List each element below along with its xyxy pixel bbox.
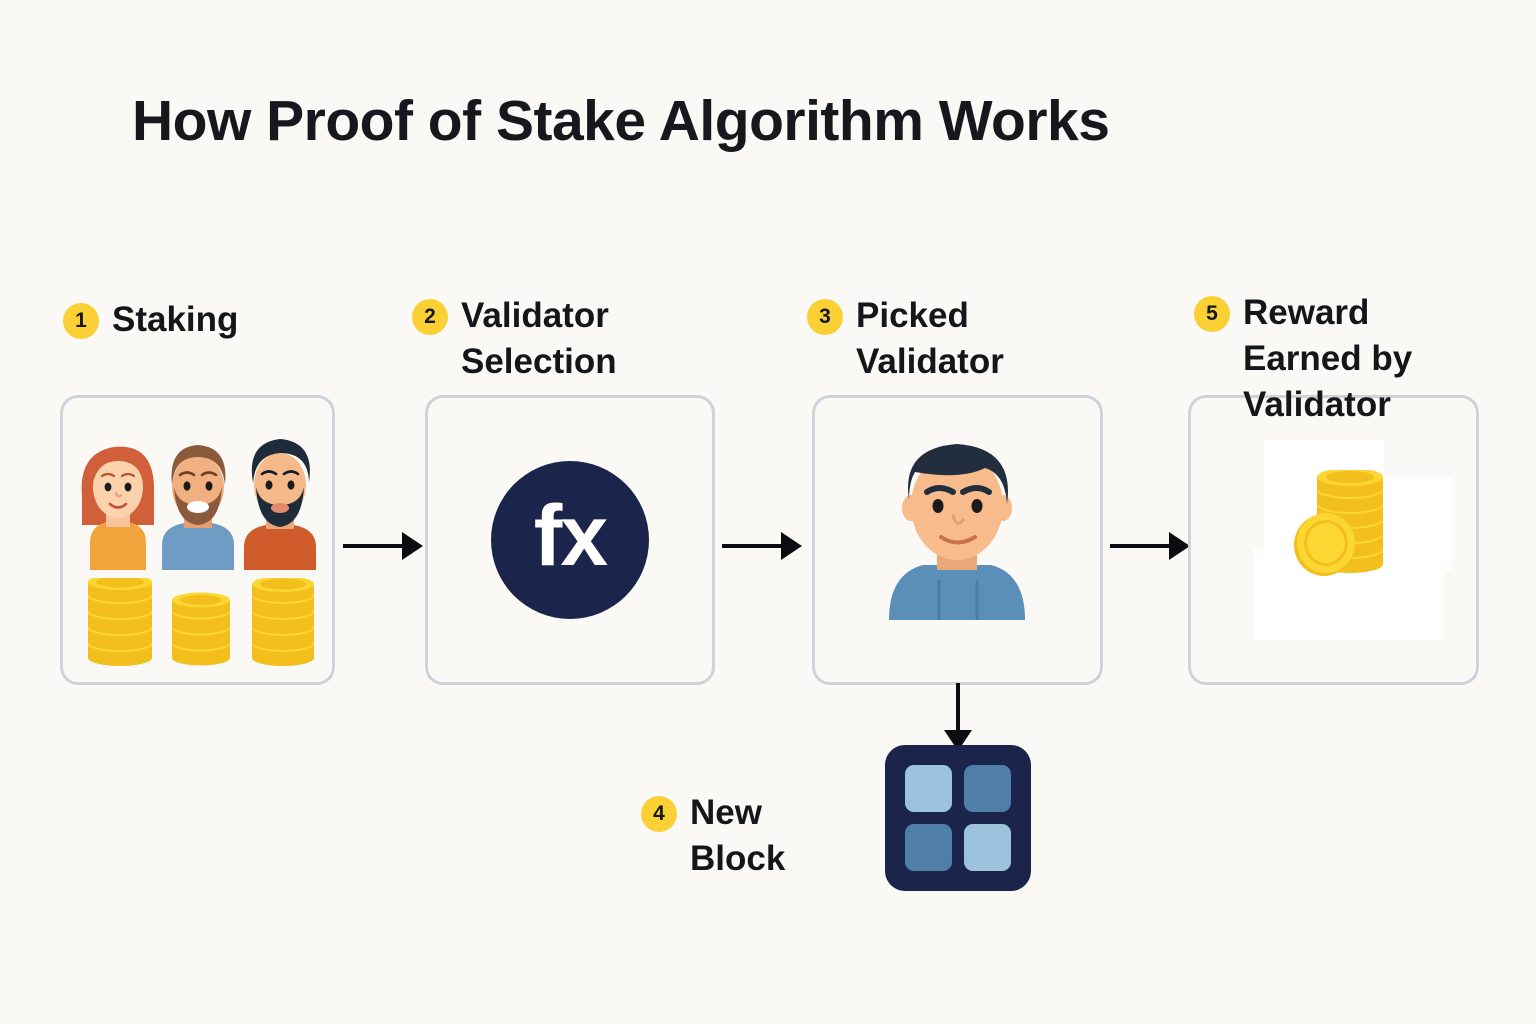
step-label-picked-validator: 3 Picked Validator bbox=[807, 293, 1004, 385]
page-title: How Proof of Stake Algorithm Works bbox=[132, 88, 1109, 154]
infographic-canvas: How Proof of Stake Algorithm Works 1 Sta… bbox=[0, 0, 1536, 1024]
step-badge-3: 3 bbox=[807, 299, 843, 335]
person-dark-haired-man-staker bbox=[244, 439, 316, 570]
block-tile-bottom-right bbox=[964, 824, 1011, 871]
reward-coin-stack bbox=[1293, 470, 1403, 582]
picked-validator-avatar bbox=[865, 434, 1049, 620]
arrow-head bbox=[781, 532, 802, 560]
block-tile-top-right bbox=[964, 765, 1011, 812]
arrow-head bbox=[402, 532, 423, 560]
step-label-staking: 1 Staking bbox=[63, 297, 238, 343]
block-tile-bottom-left bbox=[905, 824, 952, 871]
arrow-head bbox=[1169, 532, 1190, 560]
arrow-staking-to-validator-selection bbox=[343, 531, 423, 561]
coin-stack-middle bbox=[172, 593, 230, 666]
step-label-reward-earned: 5 Reward Earned by Validator bbox=[1194, 290, 1412, 429]
arrow-validator-selection-to-picked-validator bbox=[722, 531, 802, 561]
person-woman-staker bbox=[82, 447, 154, 570]
step-badge-2: 2 bbox=[412, 299, 448, 335]
step-badge-5: 5 bbox=[1194, 296, 1230, 332]
coin-stack-left bbox=[88, 578, 152, 666]
arrow-shaft bbox=[722, 544, 781, 548]
step-title-2: Validator Selection bbox=[461, 293, 617, 385]
step-title-1: Staking bbox=[112, 297, 238, 343]
new-block-icon bbox=[885, 745, 1031, 891]
step-title-4: New Block bbox=[690, 790, 785, 882]
arrow-shaft bbox=[1110, 544, 1169, 548]
step-title-3: Picked Validator bbox=[856, 293, 1004, 385]
coin-stacks-group bbox=[88, 578, 314, 670]
step-label-validator-selection: 2 Validator Selection bbox=[412, 293, 617, 385]
arrow-shaft bbox=[343, 544, 402, 548]
step-label-new-block: 4 New Block bbox=[641, 790, 785, 882]
coin-stack-right bbox=[252, 578, 314, 666]
block-tile-top-left bbox=[905, 765, 952, 812]
step-title-5: Reward Earned by Validator bbox=[1243, 290, 1412, 429]
arrow-shaft bbox=[956, 683, 960, 730]
three-people-illustration bbox=[72, 425, 324, 570]
fx-algorithm-icon: fx bbox=[491, 461, 649, 619]
arrow-picked-validator-to-reward bbox=[1110, 531, 1190, 561]
arrow-picked-validator-to-new-block bbox=[943, 683, 973, 751]
person-bearded-man-staker bbox=[162, 445, 234, 570]
step-badge-1: 1 bbox=[63, 303, 99, 339]
step-badge-4: 4 bbox=[641, 796, 677, 832]
